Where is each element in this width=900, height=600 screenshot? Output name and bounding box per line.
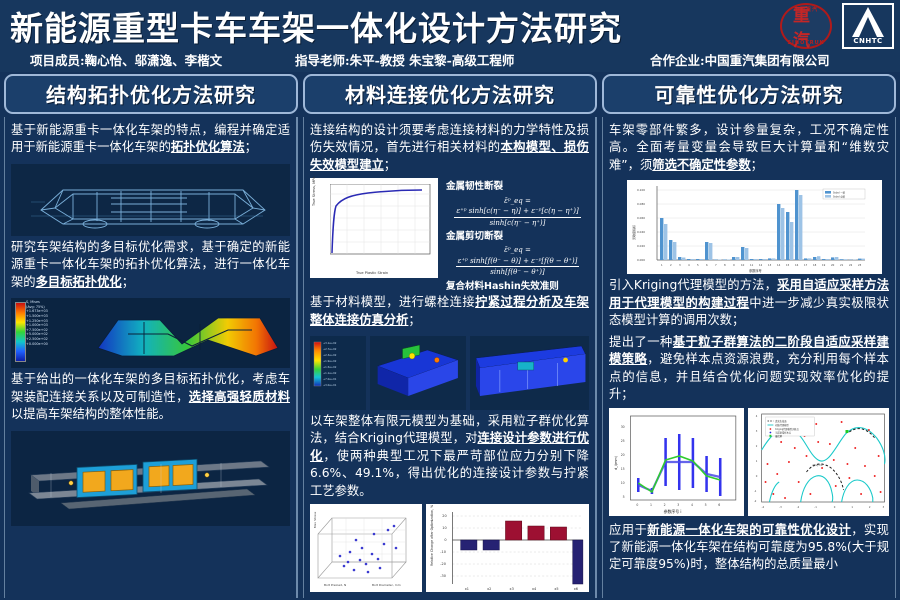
svg-text:-3: -3 [779,504,782,508]
svg-text:0.020: 0.020 [637,244,645,248]
failure-model-equations: 金属韧性断裂 ε̄ᵖ_eq = ε⁺ᵖ sinh[c(η⁻ − η)] + ε⁻… [442,178,589,294]
figure-doe-scatter-3d: Bolt Preload, N Bolt Diameter, mm Max St… [310,504,422,592]
svg-text:19: 19 [822,263,826,267]
svg-text:20: 20 [621,452,625,456]
svg-text:x6: x6 [574,587,578,591]
paragraph-2-3: 以车架整体有限元模型为基础，采用粒子群优化算法，结合Kriging代理模型，对连… [310,413,589,500]
fea-color-legend [15,302,26,362]
svg-text:0: 0 [444,538,446,542]
figure-sensitivity-bar-chart: 0.1000.0800.060 0.0400.0200.000 1234 567… [627,180,882,274]
figure-frame-cad-model [11,164,290,236]
svg-text:x3: x3 [510,587,514,591]
errorbar-xlabel: 参数序号 i [664,508,682,513]
svg-text:Sobol 总阶: Sobol 总阶 [833,195,846,199]
credits-row: 项目成员:鞠心怡、邬潇逸、李楷文 指导老师:朱平-教授 朱宝黎-高级工程师 合作… [0,50,900,70]
svg-text:10: 10 [621,480,625,484]
columns-container: 结构拓扑优化方法研究 基于新能源重卡一体化车架的特点，编程并确定适用于新能源重卡… [0,74,900,598]
column-material-joining: 材料连接优化方法研究 连接结构的设计须要考虑连接材料的力学特性及损伤失效情况，首… [303,74,597,598]
svg-text:+7.0e+01: +7.0e+01 [323,377,337,381]
svg-text:15: 15 [621,466,625,470]
svg-text:Bolt Preload, N: Bolt Preload, N [324,583,346,587]
svg-text:初始代理模型: 初始代理模型 [775,422,789,426]
cnhtc-logo: CNHTC [842,3,894,49]
svg-text:12: 12 [759,263,763,267]
material-model-row: True Stress, MPa True Plastic Strain 金属韧… [310,178,589,294]
sensitivity-legend: Sobol 一阶 Sobol 总阶 [823,189,865,199]
page-title: 新能源重型卡车车架一体化设计方法研究 [10,2,650,50]
svg-text:-2: -2 [796,504,799,508]
figure-frame-rail-assembly [11,431,290,526]
errorbar-plot-icon: 302520 15105 012 3456 参数序号 i d_i(mm) [609,408,744,516]
svg-text:5: 5 [623,494,625,498]
paragraph-1-3: 基于给出的一体化车架的多目标拓扑优化，考虑车架装配连接关系以及可制造性，选择高强… [11,371,290,423]
svg-text:-1: -1 [753,488,756,492]
svg-text:13: 13 [768,263,772,267]
figure-limit-state-contour-chart: g(x)=0 真实失效面 初始代理模型 Kriging代理模型训练点 当 [748,408,889,516]
svg-text:+1.5e+02: +1.5e+02 [323,365,337,369]
fea-legend-values: S, Mises (Avg: 75%) +1.673e+03 +1.500e+0… [26,300,48,346]
svg-text:-30: -30 [440,574,446,578]
svg-text:16: 16 [795,263,799,267]
column-1-heading: 结构拓扑优化方法研究 [4,74,298,114]
contour-legend: 真实失效面 初始代理模型 Kriging代理模型训练点 当前新增样本点 最优解 [765,417,814,438]
svg-text:2: 2 [664,502,666,506]
sinotruk-seal-logo: 中国重汽 重汽 SINOTRUK [780,3,832,49]
column-2-body: 连接结构的设计须要考虑连接材料的力学特性及损伤失效情况，首先进行相关材料的本构模… [303,117,597,598]
svg-text:+1.9e+02: +1.9e+02 [323,359,337,363]
poster-header: 新能源重型卡车车架一体化设计方法研究 中国重汽 重汽 SINOTRUK CNHT… [0,0,900,72]
figure-frame-joint-fea [470,336,589,410]
partner-company: 合作企业:中国重汽集团有限公司 [650,50,830,69]
svg-text:15: 15 [786,263,790,267]
cnhtc-label: CNHTC [844,37,892,45]
svg-text:Bolt Diameter, mm: Bolt Diameter, mm [372,583,401,587]
paragraph-3-2: 引入Kriging代理模型的方法，采用自适应采样方法用于代理模型的构建过程中进一… [609,277,889,329]
shear-fracture-equation: ε̄ᵖ_eq = ε⁺ᵖ sinh[f(θ⁻ − θ)] + ε⁻ᵖ[f(θ −… [446,245,589,278]
svg-text:0.000: 0.000 [637,258,645,262]
stress-strain-plot-icon [330,184,432,262]
figure-parameter-errorbar-chart: 302520 15105 012 3456 参数序号 i d_i(mm) [609,408,744,516]
svg-text:10: 10 [741,263,745,267]
svg-text:10: 10 [442,526,446,530]
doe-scatter3d-icon: Bolt Preload, N Bolt Diameter, mm Max St… [310,504,422,592]
svg-text:18: 18 [813,263,817,267]
svg-text:x4: x4 [532,587,536,591]
sensitivity-bars-icon: 0.1000.0800.060 0.0400.0200.000 1234 567… [627,180,882,274]
column-3-body: 车架零部件繁多，设计参量复杂，工况不确定性高。全面考量变量会导致巨大计算量和“维… [602,117,896,598]
poster-root: 新能源重型卡车车架一体化设计方法研究 中国重汽 重汽 SINOTRUK CNHT… [0,0,900,600]
figure-bolt-legend: +3.1e+02+2.7e+02 +2.3e+02+1.9e+02 +1.5e+… [310,336,366,410]
optimization-results-row: Bolt Preload, N Bolt Diameter, mm Max St… [310,504,589,592]
stress-axis-label: True Stress, MPa [312,177,316,206]
svg-text:11: 11 [750,263,754,267]
svg-text:17: 17 [804,263,808,267]
svg-text:0.040: 0.040 [637,230,645,234]
paragraph-3-1: 车架零部件繁多，设计参量复杂，工况不确定性高。全面考量变量会导致巨大计算量和“维… [609,122,889,174]
ductile-fracture-title: 金属韧性断裂 [446,180,589,194]
figure-bolt-tightening-fea [370,336,466,410]
figure-relative-change-bar-chart: 20100 -10-20-30 x1x2x3 x4x5x6 Relative C… [426,504,589,592]
reliability-charts-row: 302520 15105 012 3456 参数序号 i d_i(mm) [609,408,889,516]
paragraph-2-2: 基于材料模型，进行螺栓连接拧紧过程分析及车架整体连接仿真分析； [310,294,589,329]
frame-joint-fea-icon [470,336,589,410]
column-structure-topology: 结构拓扑优化方法研究 基于新能源重卡一体化车架的特点，编程并确定适用于新能源重卡… [4,74,298,598]
svg-text:最优解: 最优解 [775,433,782,437]
project-members: 项目成员:鞠心怡、邬潇逸、李楷文 [30,50,222,69]
shear-fracture-title: 金属剪切断裂 [446,230,589,244]
svg-text:25: 25 [621,438,625,442]
paragraph-2-1: 连接结构的设计须要考虑连接材料的力学特性及损伤失效情况，首先进行相关材料的本构模… [310,122,589,174]
limit-state-contour-icon: g(x)=0 真实失效面 初始代理模型 Kriging代理模型训练点 当 [748,408,889,516]
svg-text:+2.3e+02: +2.3e+02 [323,353,337,357]
svg-text:14: 14 [777,263,781,267]
svg-text:23: 23 [858,263,862,267]
cnhtc-triangle-icon [844,5,892,39]
svg-text:Sobol 一阶: Sobol 一阶 [833,191,846,195]
figure-topology-fea-result: S, Mises (Avg: 75%) +1.673e+03 +1.500e+0… [11,298,290,368]
svg-text:-4: -4 [761,504,764,508]
svg-text:5: 5 [705,502,707,506]
svg-text:Max Stress: Max Stress [313,511,317,528]
sensitivity-ylabel: 灵敏度指标 [631,225,636,240]
paragraph-1-1: 基于新能源重卡一体化车架的特点，编程并确定适用于新能源重卡一体化车架的拓扑优化算… [11,122,290,157]
svg-text:0.100: 0.100 [637,188,645,192]
column-reliability: 可靠性优化方法研究 车架零部件繁多，设计参量复杂，工况不确定性高。全面考量变量会… [602,74,896,598]
project-advisors: 指导老师:朱平-教授 朱宝黎-高级工程师 [295,50,514,69]
svg-text:Relative Change after Optimiza: Relative Change after Optimization, % [430,505,434,566]
svg-text:-20: -20 [440,562,446,566]
column-2-heading: 材料连接优化方法研究 [303,74,597,114]
sensitivity-xlabel: 参数序号 [749,268,762,273]
svg-text:0: 0 [636,502,638,506]
svg-text:22: 22 [849,263,853,267]
fea-beam-contour-icon [88,300,288,368]
svg-text:真实失效面: 真实失效面 [775,418,787,422]
joint-simulation-row: +3.1e+02+2.7e+02 +2.3e+02+1.9e+02 +1.5e+… [310,333,589,413]
paragraph-3-4: 应用于新能源一体化车架的可靠性优化设计，实现了新能源一体化车架在结构可靠度为95… [609,522,889,574]
svg-text:+2.7e+02: +2.7e+02 [323,347,337,351]
svg-text:0.060: 0.060 [637,216,645,220]
svg-text:-2: -2 [753,498,756,502]
svg-text:20: 20 [831,263,835,267]
svg-text:0.080: 0.080 [637,202,645,206]
figure-true-stress-strain-curve: True Stress, MPa True Plastic Strain [310,178,438,278]
svg-text:x2: x2 [487,587,491,591]
hashin-criterion-title: 复合材料Hashin失效准则 [446,280,589,294]
svg-text:21: 21 [840,263,844,267]
svg-text:1: 1 [650,502,652,506]
strain-axis-label: True Plastic Strain [356,271,388,275]
paragraph-3-3: 提出了一种基于粒子群算法的二阶段自适应采样建模策略，避免样本点资源浪费，充分利用… [609,334,889,404]
ductile-fracture-equation: ε̄ᵖ_eq = ε⁺ᵖ sinh[c(η⁻ − η)] + ε⁻ᵖ[c(η −… [446,196,589,229]
svg-text:30: 30 [621,424,625,428]
column-1-body: 基于新能源重卡一体化车架的特点，编程并确定适用于新能源重卡一体化车架的拓扑优化算… [4,117,298,598]
svg-text:x1: x1 [465,587,469,591]
errorbar-ylabel: d_i(mm) [614,455,618,470]
column-3-heading: 可靠性优化方法研究 [602,74,896,114]
svg-text:+1.1e+02: +1.1e+02 [323,371,337,375]
svg-text:-10: -10 [440,550,446,554]
paragraph-1-2: 研究车架结构的多目标优化需求，基于确定的新能源重卡一体化车架的拓扑优化算法，进行… [11,239,290,291]
svg-text:3: 3 [677,502,679,506]
svg-text:+3.0e+01: +3.0e+01 [323,383,337,387]
limit-state-annotation: g(x)=0 [812,462,822,466]
svg-text:+3.1e+02: +3.1e+02 [323,341,337,345]
svg-text:x5: x5 [554,587,558,591]
svg-text:20: 20 [442,514,446,518]
svg-text:6: 6 [718,502,720,506]
relative-change-bars-icon: 20100 -10-20-30 x1x2x3 x4x5x6 Relative C… [426,504,589,592]
seal-arc-bottom-text: SINOTRUK [780,40,832,46]
svg-text:-1: -1 [814,504,817,508]
svg-text:Kriging代理模型训练点: Kriging代理模型训练点 [775,426,799,430]
bolt-fea-icon [370,336,466,410]
bolt-legend-icon: +3.1e+02+2.7e+02 +2.3e+02+1.9e+02 +1.5e+… [310,336,364,408]
svg-text:4: 4 [691,502,693,506]
